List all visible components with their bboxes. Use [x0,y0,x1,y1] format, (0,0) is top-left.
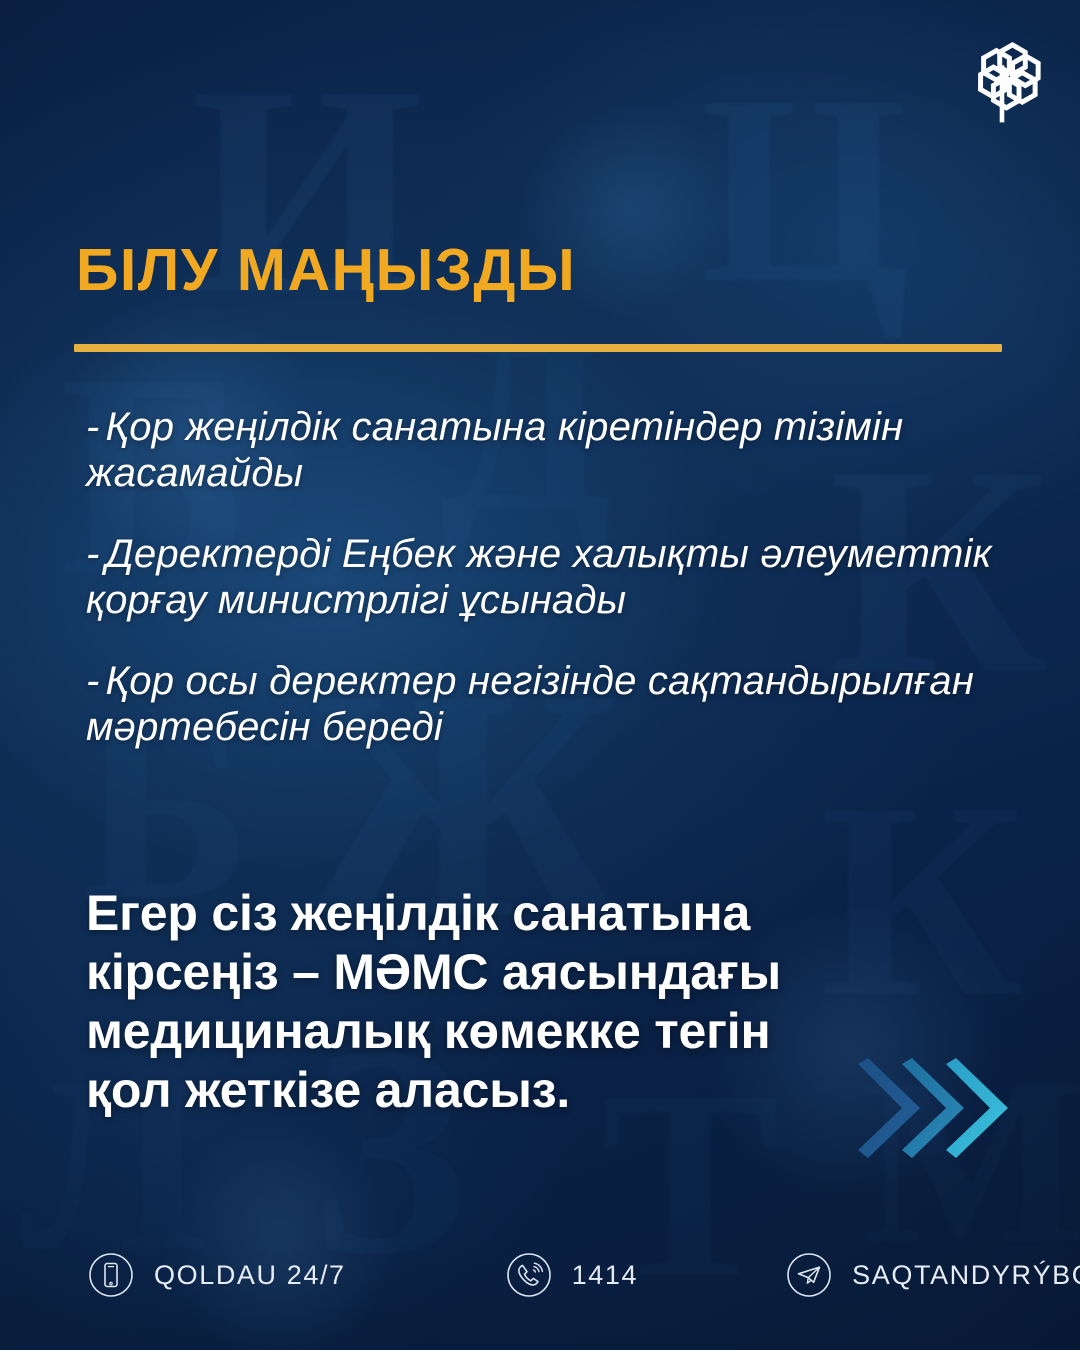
ringing-phone-icon [506,1252,552,1298]
mobile-phone-icon [88,1252,134,1298]
bullet-text: Деректерді Еңбек және халықты әлеуметтік… [86,532,992,622]
title-divider [74,344,1002,352]
list-item: -Деректерді Еңбек және халықты әлеуметті… [86,531,1016,624]
statement-line: Егер сіз жеңілдік санатына [86,884,986,943]
bullet-dash: - [86,405,100,449]
bullet-text: Қор жеңілдік санатына кіретіндер тізімін… [86,405,903,495]
footer-item-qoldau[interactable]: QOLDAU 24/7 [88,1252,346,1298]
footer-item-label: 1414 [572,1260,638,1291]
footer-bar: QOLDAU 24/7 1414 [0,1240,1080,1310]
list-item: -Қор жеңілдік санатына кіретіндер тізімі… [86,404,1016,497]
page-title: БІЛУ МАҢЫЗДЫ [76,236,576,304]
statement-block: Егер сіз жеңілдік санатына кірсеңіз – МӘ… [86,884,986,1120]
footer-item-label: SAQTANDYRÝBOT [852,1260,1080,1291]
infographic-card: И Ц Б Д К Ж Б К З Т Л М [0,0,1080,1350]
telegram-paper-plane-icon [786,1252,832,1298]
footer-item-hotline[interactable]: 1414 [506,1252,638,1298]
statement-line: қол жеткізе аласыз. [86,1061,986,1120]
bullet-dash: - [86,532,100,576]
footer-item-telegram-bot[interactable]: SAQTANDYRÝBOT [786,1252,1080,1298]
bullet-list: -Қор жеңілдік санатына кіретіндер тізімі… [86,404,1016,784]
footer-item-label: QOLDAU 24/7 [154,1260,346,1291]
list-item: -Қор осы деректер негізінде сақтандырылғ… [86,658,1016,751]
statement-line: медициналық көмекке тегін [86,1002,986,1061]
bullet-text: Қор осы деректер негізінде сақтандырылға… [86,659,974,749]
statement-line: кірсеңіз – МӘМС аясындағы [86,943,986,1002]
triple-chevron-right-icon [852,1050,1032,1165]
bullet-dash: - [86,659,100,703]
